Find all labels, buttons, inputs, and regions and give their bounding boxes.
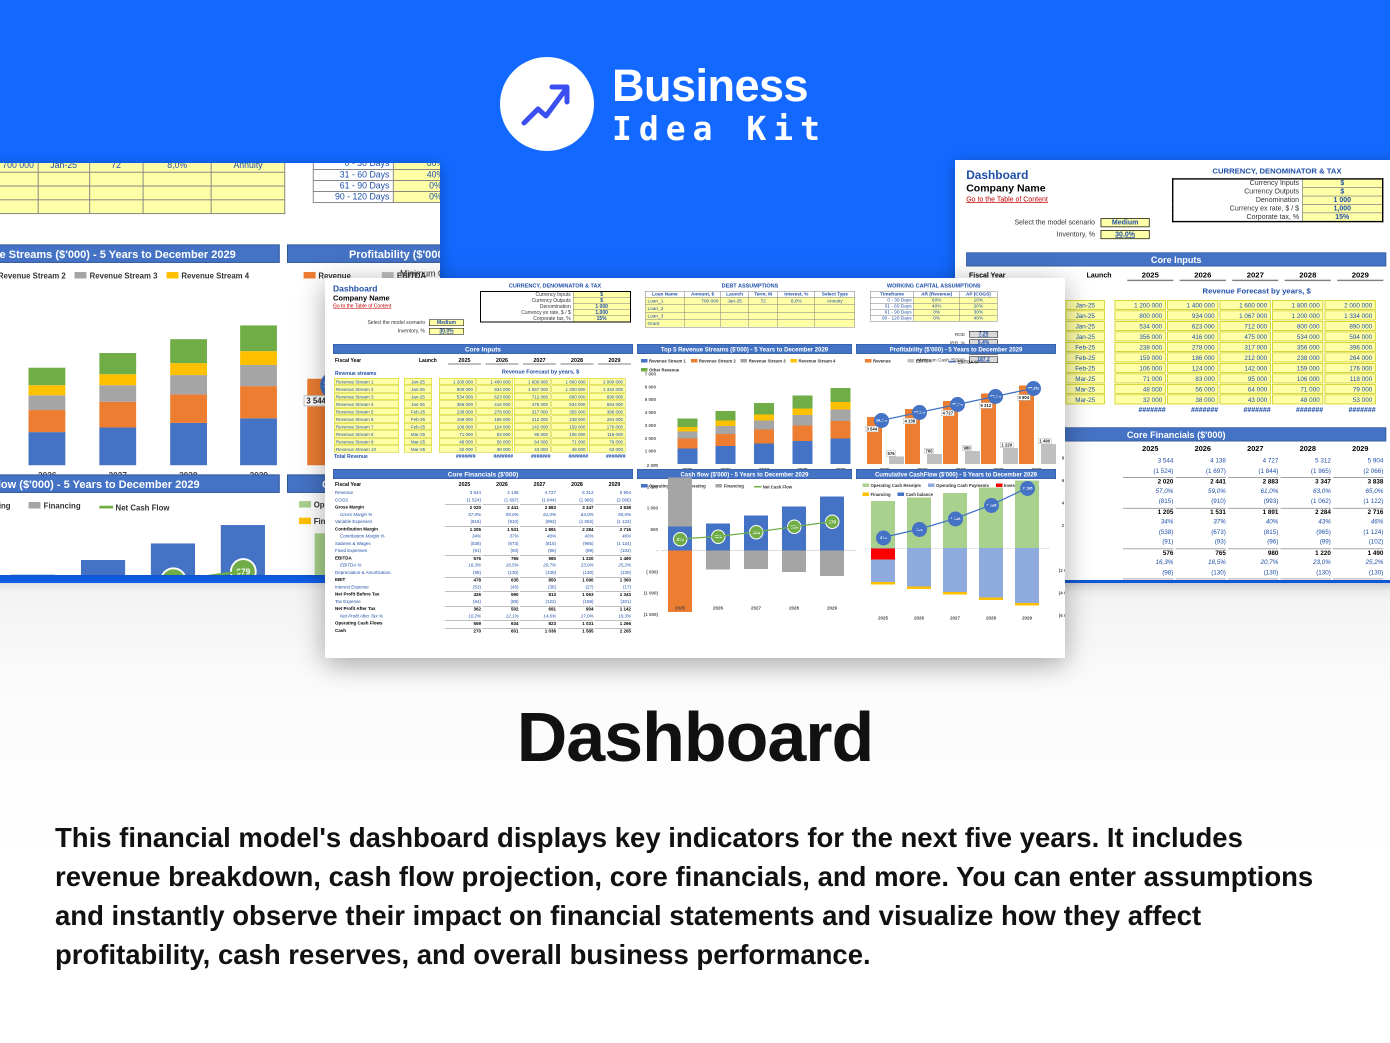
debt-cell[interactable]: Jan-25 <box>38 163 89 172</box>
revenue-stream-value[interactable]: 106 000 <box>552 431 589 438</box>
debt-cell[interactable] <box>778 312 815 320</box>
revenue-stream-value[interactable]: 95 000 <box>1220 374 1271 384</box>
trending-up-arrow-icon <box>516 73 578 135</box>
profit-revenue-label: 5 904 <box>1017 394 1031 400</box>
revenue-stream-value[interactable]: 186 000 <box>1167 353 1218 363</box>
total-revenue-value: ####### <box>552 454 589 460</box>
revenue-stream-name[interactable]: Revenue Stream 6 <box>334 416 399 423</box>
year-header: 2025 <box>1127 271 1173 281</box>
revenue-stream-value[interactable]: 186 000 <box>477 416 514 423</box>
currency-value[interactable]: $ <box>1302 188 1383 196</box>
debt-cell[interactable] <box>0 172 38 186</box>
revenue-stream-value[interactable]: 800 000 <box>552 393 589 400</box>
financial-row-value: 1 036 <box>520 628 556 634</box>
legend-label: Investing <box>0 501 11 510</box>
revenue-stream-value[interactable]: 594 000 <box>589 401 626 408</box>
revenue-stream-name[interactable]: Revenue Stream 3 <box>334 393 399 400</box>
debt-cell[interactable] <box>211 172 284 186</box>
currency-row: Corporate tax, %15% <box>481 316 631 322</box>
debt-cell[interactable] <box>89 186 143 200</box>
revenue-stream-value[interactable]: 118 000 <box>1325 374 1376 384</box>
revenue-stream-value[interactable]: 159 000 <box>439 416 476 423</box>
debt-cell[interactable] <box>143 172 211 186</box>
legend-entry: Revenue <box>865 358 891 363</box>
revenue-stream-value[interactable]: 1 400 000 <box>477 378 514 385</box>
revenue-stream-value[interactable]: 32 000 <box>1115 395 1166 405</box>
scenario-value[interactable]: Medium <box>429 320 464 327</box>
legend-entry: Investing <box>0 501 11 510</box>
scenario-label: Select the model scenario <box>345 320 425 326</box>
legend-label: Revenue Stream 2 <box>0 271 66 280</box>
revenue-stream-value[interactable]: 48 000 <box>1272 395 1323 405</box>
revenue-stream-value[interactable]: 238 000 <box>439 408 476 415</box>
financial-row-label: Net Profit Before Tax <box>335 592 379 597</box>
revenue-stream-value[interactable]: 159 000 <box>1115 353 1166 363</box>
profit-revenue-label: 5 312 <box>979 402 993 408</box>
legend-label: Revenue <box>873 358 891 363</box>
revenue-stream-value[interactable]: 890 000 <box>1325 321 1376 331</box>
revenue-stream-value[interactable]: 83 000 <box>477 431 514 438</box>
legend-entry: Cash balance <box>898 492 933 497</box>
revenue-stream-value[interactable]: 212 000 <box>1220 353 1271 363</box>
revenue-stream-value[interactable]: 416 000 <box>1167 332 1218 342</box>
revenue-stream-value[interactable]: 594 000 <box>1325 332 1376 342</box>
legend-entry: Net Cash Flow <box>99 503 169 512</box>
financial-row-value: (815) <box>520 541 556 546</box>
currency-value[interactable]: 1,000 <box>1302 204 1383 212</box>
revenue-stream-launch[interactable]: Jan-25 <box>404 378 432 385</box>
debt-cell[interactable] <box>815 305 855 313</box>
cumcash-ytick: 2 000 <box>1050 523 1065 528</box>
debt-cell[interactable] <box>721 312 749 320</box>
top5-bar-segment <box>754 430 774 444</box>
revenue-stream-value[interactable]: 264 000 <box>1325 353 1376 363</box>
revenue-stream-launch[interactable]: Jan-25 <box>404 401 432 408</box>
revenue-stream-name[interactable]: Revenue Stream 7 <box>334 423 399 430</box>
debt-cell[interactable] <box>211 186 284 200</box>
revenue-stream-value[interactable]: 800 000 <box>1115 311 1166 321</box>
revenue-stream-launch[interactable]: Jan-25 <box>404 393 432 400</box>
revenue-stream-value[interactable]: 56 000 <box>1167 384 1218 394</box>
revenue-stream-value[interactable]: 71 000 <box>439 431 476 438</box>
revenue-stream-value[interactable]: 1 600 000 <box>514 378 551 385</box>
financial-row-value: 478 <box>1123 579 1173 580</box>
cashflow-legend: OperatingInvestingFinancingNet Cash Flow <box>0 497 278 514</box>
year-header: 2027 <box>523 358 556 365</box>
inventory-label: Inventory, % <box>345 329 425 335</box>
profit-ebitda-pct-bubble: 23,0% <box>988 389 1003 404</box>
revenue-stream-launch[interactable]: Jan-25 <box>1066 321 1105 331</box>
debt-cell[interactable] <box>778 320 815 328</box>
financial-row-value: 4 727 <box>1228 457 1278 464</box>
scenario-value[interactable]: Medium <box>1101 218 1150 227</box>
revenue-stream-value[interactable]: 43 000 <box>1220 395 1271 405</box>
debt-cell[interactable] <box>685 305 721 313</box>
top5-ytick: 7 000 <box>639 372 656 377</box>
profit-ebitda-label: 765 <box>924 448 934 454</box>
revenue-stream-value[interactable]: 212 000 <box>514 416 551 423</box>
revenue-stream-value[interactable]: 106 000 <box>1272 374 1323 384</box>
revenue-stream-value[interactable]: 53 000 <box>589 446 626 453</box>
revenue-stream-value[interactable]: 1 334 000 <box>1325 311 1376 321</box>
revenue-stream-value[interactable]: 53 000 <box>1325 395 1376 405</box>
financial-row-value: 980 <box>1228 548 1278 556</box>
financial-row-value: (91) <box>1123 538 1173 545</box>
financial-row-value: (130) <box>1281 568 1331 575</box>
debt-cell[interactable]: Jan-25 <box>721 297 749 305</box>
legend-swatch <box>716 484 723 488</box>
revenue-stream-value[interactable]: 95 000 <box>514 431 551 438</box>
revenue-stream-value[interactable]: 1 200 000 <box>552 386 589 393</box>
debt-cell[interactable] <box>721 320 749 328</box>
revenue-stream-value[interactable]: 1 800 000 <box>1272 300 1323 310</box>
revenue-stream-value[interactable]: 1 400 000 <box>1167 300 1218 310</box>
top5-bar-segment <box>240 365 277 386</box>
financial-row-value: 10,2% <box>445 613 481 618</box>
revenue-stream-value[interactable]: 534 000 <box>439 393 476 400</box>
revenue-stream-value[interactable]: 64 000 <box>514 438 551 445</box>
cumcash-ytick: 6 000 <box>1050 478 1065 483</box>
top5-bar-segment <box>831 410 851 421</box>
revenue-stream-value[interactable]: 238 000 <box>1272 353 1323 363</box>
revenue-stream-launch[interactable]: Feb-25 <box>1066 353 1105 363</box>
logo-wordmark: Business Idea Kit <box>612 63 827 145</box>
legend-swatch <box>75 272 87 278</box>
launch-label: Launch <box>419 358 437 364</box>
revenue-stream-launch[interactable]: Mar-25 <box>1066 395 1105 405</box>
financial-row-value: 1 490 <box>1333 548 1383 556</box>
revenue-stream-value[interactable]: 238 000 <box>552 416 589 423</box>
legend-entry: Financing <box>863 492 891 497</box>
revenue-stream-value[interactable]: 1 067 000 <box>514 386 551 393</box>
debt-cell[interactable] <box>89 172 143 186</box>
revenue-stream-value[interactable]: 176 000 <box>1325 363 1376 373</box>
revenue-stream-value[interactable]: 79 000 <box>1325 384 1376 394</box>
kpi-label: ROE <box>885 332 965 338</box>
revenue-stream-value[interactable]: 712 000 <box>1220 321 1271 331</box>
currency-value[interactable]: 1 000 <box>1302 196 1383 204</box>
revenue-stream-value[interactable]: 1 200 000 <box>1272 311 1323 321</box>
revenue-stream-launch[interactable]: Mar-25 <box>404 446 432 453</box>
revenue-stream-value[interactable]: 534 000 <box>1272 332 1323 342</box>
profit-chart-title: Profitability ($'000) - 5 Years to Decem… <box>856 344 1056 354</box>
debt-cell[interactable] <box>749 305 778 313</box>
revenue-stream-value[interactable]: 106 000 <box>1115 363 1166 373</box>
wc-cell[interactable]: 0% <box>394 181 440 192</box>
financial-row-label: Net Profit After Tax % <box>335 613 383 618</box>
revenue-stream-launch[interactable]: Feb-25 <box>404 416 432 423</box>
financial-row-value: 904 <box>558 606 594 612</box>
revenue-stream-value[interactable]: 396 000 <box>1325 342 1376 352</box>
debt-cell[interactable] <box>143 200 211 214</box>
revenue-stream-value[interactable]: 712 000 <box>514 393 551 400</box>
financial-row-value: 5 312 <box>1281 457 1331 464</box>
revenue-stream-value[interactable]: 1 334 000 <box>589 386 626 393</box>
debt-cell[interactable] <box>815 320 855 328</box>
legend-entry: Revenue Stream 4 <box>791 358 836 363</box>
revenue-stream-value[interactable]: 48 000 <box>439 438 476 445</box>
cashflow-cat-label: 2025 <box>668 606 692 611</box>
revenue-stream-name[interactable]: Revenue Stream 10 <box>334 446 399 453</box>
debt-cell[interactable] <box>38 186 89 200</box>
revenue-stream-value[interactable]: 56 000 <box>477 438 514 445</box>
revenue-stream-value[interactable]: 71 000 <box>1115 374 1166 384</box>
currency-table: Currency Inputs$Currency Outputs$Denomin… <box>1172 178 1383 222</box>
revenue-stream-value[interactable]: 124 000 <box>1167 363 1218 373</box>
revenue-stream-launch[interactable]: Feb-25 <box>404 408 432 415</box>
cf-year-header: 2026 <box>1180 445 1226 453</box>
revenue-stream-value[interactable]: 1 600 000 <box>1220 300 1271 310</box>
revenue-stream-value[interactable]: 71 000 <box>1272 384 1323 394</box>
currency-value[interactable]: $ <box>1302 179 1383 188</box>
revenue-stream-name[interactable]: Revenue Stream 5 <box>334 408 399 415</box>
revenue-stream-launch[interactable]: Jan-25 <box>1066 311 1105 321</box>
financial-row-value: 3 838 <box>1333 477 1383 485</box>
revenue-stream-value[interactable]: 800 000 <box>1272 321 1323 331</box>
revenue-stream-launch[interactable]: Jan-25 <box>1066 300 1105 310</box>
financial-row-value: 37% <box>1176 518 1226 525</box>
revenue-stream-value[interactable]: 2 000 000 <box>589 378 626 385</box>
debt-cell[interactable] <box>778 305 815 313</box>
currency-value[interactable]: 15% <box>1302 213 1383 222</box>
cf-year-header: 2028 <box>561 482 594 488</box>
revenue-stream-value[interactable]: 475 000 <box>1220 332 1271 342</box>
top5-chart-title: Top 5 Revenue Streams ($'000) - 5 Years … <box>637 344 852 354</box>
debt-cell[interactable] <box>143 186 211 200</box>
revenue-stream-value[interactable]: 79 000 <box>589 438 626 445</box>
revenue-stream-value[interactable]: 142 000 <box>1220 363 1271 373</box>
financial-row-value: 23,0% <box>558 563 594 568</box>
revenue-stream-value[interactable]: 124 000 <box>477 423 514 430</box>
wc-cell[interactable]: 40% <box>394 169 440 180</box>
revenue-stream-value[interactable]: 475 000 <box>514 401 551 408</box>
top5-bar-segment <box>99 385 136 402</box>
revenue-stream-launch[interactable]: Feb-25 <box>1066 363 1105 373</box>
revenue-stream-value[interactable]: 264 000 <box>589 416 626 423</box>
debt-cell[interactable]: 72 <box>89 163 143 172</box>
debt-cell[interactable]: Loan_3 <box>645 312 684 320</box>
revenue-stream-value[interactable]: 238 000 <box>1115 342 1166 352</box>
revenue-stream-value[interactable]: 118 000 <box>589 431 626 438</box>
currency-value[interactable]: 15% <box>573 316 631 322</box>
revenue-stream-launch[interactable]: Jan-25 <box>1066 332 1105 342</box>
debt-cell[interactable]: Loan_1 <box>645 297 684 305</box>
revenue-stream-value[interactable]: 159 000 <box>1272 363 1323 373</box>
revenue-stream-value[interactable]: 159 000 <box>552 423 589 430</box>
revenue-stream-value[interactable]: 71 000 <box>552 438 589 445</box>
revenue-stream-value[interactable]: 278 000 <box>1167 342 1218 352</box>
debt-cell[interactable]: Annuity <box>815 297 855 305</box>
financial-row-value: 2 883 <box>520 505 556 511</box>
revenue-stream-value[interactable]: 43 000 <box>514 446 551 453</box>
revenue-stream-value[interactable]: 623 000 <box>1167 321 1218 331</box>
debt-table: Loan NameAmount, $LaunchTerm, MInterest,… <box>0 163 285 214</box>
financial-row-value: 576 <box>445 555 481 561</box>
debt-cell[interactable] <box>749 312 778 320</box>
financial-row-value: (99) <box>558 548 594 553</box>
revenue-stream-launch[interactable]: Mar-25 <box>404 438 432 445</box>
revenue-stream-launch[interactable]: Feb-25 <box>1066 342 1105 352</box>
debt-cell[interactable]: Annuity <box>211 163 284 172</box>
legend-swatch <box>863 484 870 488</box>
profit-ebitda-bar <box>889 456 904 464</box>
financial-row-value: (130) <box>1176 568 1226 575</box>
debt-table: Loan NameAmount, $LaunchTerm, MInterest,… <box>645 291 855 328</box>
revenue-stream-launch[interactable]: Jan-25 <box>404 386 432 393</box>
wc-cell[interactable]: 40% <box>960 315 998 321</box>
revenue-stream-value[interactable]: 800 000 <box>439 386 476 393</box>
currency-label: Denomination <box>1173 196 1303 204</box>
revenue-stream-value[interactable]: 1 067 000 <box>1220 311 1271 321</box>
revenue-stream-value[interactable]: 2 000 000 <box>1325 300 1376 310</box>
brand-logo: Business Idea Kit <box>500 52 900 156</box>
debt-cell[interactable] <box>38 200 89 214</box>
year-header: 2028 <box>561 358 594 365</box>
legend-label: EBITDA <box>916 358 932 363</box>
toc-link[interactable]: Go to the Table of Content <box>966 196 1048 204</box>
debt-cell[interactable]: Loan_2 <box>645 305 684 313</box>
currency-label: Corporate tax, % <box>481 316 574 322</box>
financial-row-value: 635 <box>483 577 519 583</box>
debt-cell[interactable] <box>721 305 749 313</box>
revenue-stream-value[interactable]: 356 000 <box>1115 332 1166 342</box>
debt-cell[interactable]: 700 000 <box>685 297 721 305</box>
revenue-stream-value[interactable]: 317 000 <box>1220 342 1271 352</box>
debt-cell[interactable] <box>685 320 721 328</box>
revenue-stream-name[interactable]: Revenue Stream 2 <box>334 386 399 393</box>
revenue-stream-value[interactable]: 356 000 <box>439 401 476 408</box>
financial-row-label: Contribution Margin <box>335 526 378 531</box>
debt-cell[interactable]: Grant <box>645 320 684 328</box>
debt-cell[interactable] <box>38 172 89 186</box>
financial-row-label: EBITDA % <box>335 563 361 568</box>
toc-link[interactable]: Go to the Table of Content <box>333 304 391 310</box>
legend-label: Revenue Stream 3 <box>749 358 786 363</box>
company-name: Company Name <box>966 182 1045 194</box>
top5-bar-segment <box>831 438 851 464</box>
financial-row-value: (1 122) <box>595 519 631 524</box>
financial-row-label: Net Profit After Tax <box>335 606 376 611</box>
revenue-stream-value[interactable]: 356 000 <box>552 408 589 415</box>
financial-row-value: (910) <box>1176 497 1226 504</box>
revenue-stream-name[interactable]: Revenue Stream 9 <box>334 438 399 445</box>
financial-row-value: 2 265 <box>595 628 631 634</box>
financial-row-value: (89) <box>483 599 519 604</box>
financial-row-value: 16,3% <box>445 563 481 568</box>
financial-row-value: (538) <box>1123 528 1173 535</box>
financial-row-value: (201) <box>595 599 631 604</box>
revenue-stream-value[interactable]: 48 000 <box>1115 384 1166 394</box>
currency-label: Currency Inputs <box>1173 179 1303 188</box>
debt-cell[interactable] <box>211 200 284 214</box>
financial-row-value: (673) <box>483 541 519 546</box>
debt-cell[interactable]: 8,0% <box>143 163 211 172</box>
debt-cell[interactable] <box>89 200 143 214</box>
revenue-stream-value[interactable]: 534 000 <box>1115 321 1166 331</box>
revenue-stream-value[interactable]: 416 000 <box>477 401 514 408</box>
legend-swatch <box>949 361 957 363</box>
legend-label: EBITDA % <box>958 359 979 364</box>
revenue-stream-value[interactable]: 142 000 <box>514 423 551 430</box>
debt-cell[interactable]: 72 <box>749 297 778 305</box>
debt-cell[interactable] <box>815 312 855 320</box>
financial-row-value: (1 844) <box>520 497 556 502</box>
revenue-stream-value[interactable]: 1 800 000 <box>552 378 589 385</box>
debt-cell[interactable] <box>749 320 778 328</box>
debt-cell[interactable] <box>0 186 38 200</box>
revenue-stream-name[interactable]: Revenue Stream 8 <box>334 431 399 438</box>
financial-row-value: (91) <box>445 548 481 553</box>
legend-swatch <box>641 359 648 363</box>
revenue-stream-launch[interactable]: Mar-25 <box>1066 374 1105 384</box>
cashflow-investing-bar <box>668 551 692 613</box>
revenue-stream-value[interactable]: 83 000 <box>1167 374 1218 384</box>
financial-row-value: (98) <box>445 570 481 575</box>
revenue-stream-value[interactable]: 356 000 <box>1272 342 1323 352</box>
financial-row-value: (1 124) <box>595 541 631 546</box>
financial-row-value: (1 524) <box>1123 467 1173 474</box>
debt-cell[interactable]: 8,0% <box>778 297 815 305</box>
debt-cell[interactable] <box>685 312 721 320</box>
revenue-stream-value[interactable]: 396 000 <box>589 408 626 415</box>
top5-bar-segment <box>716 421 736 426</box>
financial-row-value: (27) <box>558 584 594 589</box>
revenue-stream-launch[interactable]: Mar-25 <box>404 431 432 438</box>
revenue-stream-value[interactable]: 64 000 <box>1220 384 1271 394</box>
revenue-stream-value[interactable]: 106 000 <box>439 423 476 430</box>
revenue-stream-value[interactable]: 278 000 <box>477 408 514 415</box>
revenue-stream-value[interactable]: 1 200 000 <box>1115 300 1166 310</box>
revenue-stream-value[interactable]: 1 200 000 <box>439 378 476 385</box>
top5-bar-segment <box>29 385 66 395</box>
cashflow-ytick: (1 000) <box>637 591 658 596</box>
legend-swatch <box>691 359 698 363</box>
revenue-stream-launch[interactable]: Mar-25 <box>1066 384 1105 394</box>
cf-year-header: 2029 <box>598 482 631 488</box>
revenue-stream-value[interactable]: 32 000 <box>439 446 476 453</box>
revenue-stream-value[interactable]: 38 000 <box>477 446 514 453</box>
revenue-stream-value[interactable]: 623 000 <box>477 393 514 400</box>
revenue-stream-value[interactable]: 934 000 <box>477 386 514 393</box>
cashflow-netcash-bubble: 435 <box>749 525 764 540</box>
debt-cell[interactable]: 700 000 <box>0 163 38 172</box>
legend-entry: Revenue Stream 3 <box>741 358 786 363</box>
cashflow-netcash-bubble: 270 <box>673 532 688 547</box>
revenue-stream-name[interactable]: Revenue Stream 4 <box>334 401 399 408</box>
revenue-stream-launch[interactable]: Feb-25 <box>404 423 432 430</box>
financial-row-value: 4 138 <box>483 490 519 495</box>
core-inputs-banner: Core Inputs <box>333 344 633 354</box>
financial-row-value: 3 347 <box>558 505 594 511</box>
revenue-stream-value[interactable]: 48 000 <box>552 446 589 453</box>
revenue-stream-value[interactable]: 176 000 <box>589 423 626 430</box>
inventory-value[interactable]: 30,0% <box>429 328 464 335</box>
revenue-stream-value[interactable]: 38 000 <box>1167 395 1218 405</box>
wc-cell[interactable]: 0% <box>394 192 440 203</box>
revenue-stream-name[interactable]: Revenue Stream 1 <box>334 378 399 385</box>
financial-row-value: (130) <box>595 570 631 575</box>
inventory-value[interactable]: 30,0% <box>1101 230 1150 239</box>
wc-cell[interactable]: 0% <box>914 315 960 321</box>
debt-cell[interactable] <box>0 200 38 214</box>
financial-row-value: (102) <box>595 548 631 553</box>
debt-block-title: DEBT ASSUMPTIONS <box>645 283 855 289</box>
revenue-stream-value[interactable]: 534 000 <box>552 401 589 408</box>
revenue-stream-value[interactable]: 890 000 <box>589 393 626 400</box>
legend-entry: EBITDA <box>908 358 932 363</box>
revenue-stream-value[interactable]: 317 000 <box>514 408 551 415</box>
revenue-stream-value[interactable]: 934 000 <box>1167 311 1218 321</box>
